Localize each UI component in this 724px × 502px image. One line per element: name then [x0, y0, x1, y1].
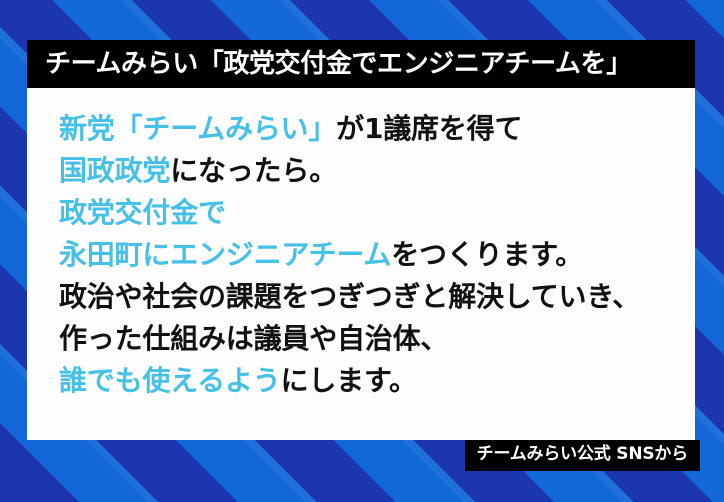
quote-panel: 新党「チームみらい」が1議席を得て国政政党になったら。政党交付金で永田町にエンジ… [27, 88, 695, 440]
quote-body: 新党「チームみらい」が1議席を得て国政政党になったら。政党交付金で永田町にエンジ… [59, 108, 695, 402]
quote-plain-text: 政治や社会の課題をつぎつぎと解決していき、 [59, 280, 640, 313]
page-title: チームみらい「政党交付金でエンジニアチームを」 [45, 51, 632, 77]
quote-highlight-text: 国政政党 [59, 154, 170, 187]
quote-line: 国政政党になったら。 [59, 150, 695, 192]
source-credit-label: チームみらい公式 SNSから [477, 444, 688, 464]
source-credit-badge: チームみらい公式 SNSから [465, 440, 700, 471]
quote-plain-text: にします。 [281, 364, 417, 397]
quote-plain-text: をつくります。 [391, 238, 583, 271]
quote-line: 作った仕組みは議員や自治体、 [59, 318, 695, 360]
quote-card: チームみらい「政党交付金でエンジニアチームを」 新党「チームみらい」が1議席を得… [27, 40, 695, 440]
quote-plain-text: 作った仕組みは議員や自治体、 [59, 322, 448, 355]
quote-line: 誰でも使えるようにします。 [59, 360, 695, 402]
quote-highlight-text: 誰でも使えるよう [59, 364, 281, 397]
title-bar: チームみらい「政党交付金でエンジニアチームを」 [27, 40, 695, 88]
screenshot-stage: チームみらい「政党交付金でエンジニアチームを」 新党「チームみらい」が1議席を得… [0, 0, 724, 502]
quote-line: 新党「チームみらい」が1議席を得て [59, 108, 695, 150]
quote-line: 政治や社会の課題をつぎつぎと解決していき、 [59, 276, 695, 318]
quote-plain-text: が1議席を得て [336, 112, 522, 145]
quote-highlight-text: 新党「チームみらい」 [59, 112, 336, 145]
quote-line: 政党交付金で [59, 192, 695, 234]
quote-highlight-text: 政党交付金で [59, 196, 226, 229]
quote-line: 永田町にエンジニアチームをつくります。 [59, 234, 695, 276]
quote-highlight-text: 永田町にエンジニアチーム [59, 238, 391, 271]
quote-plain-text: になったら。 [170, 154, 337, 187]
